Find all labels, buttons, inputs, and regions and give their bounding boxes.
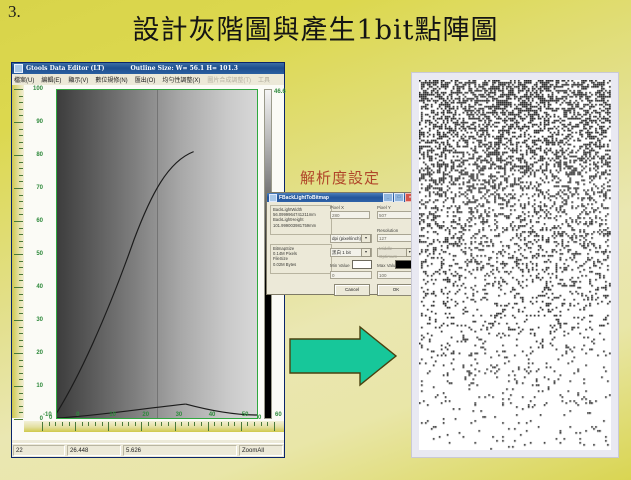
ruler-tick — [234, 422, 235, 426]
ruler-tick — [14, 221, 23, 222]
resolution-field[interactable]: 127 — [377, 234, 415, 242]
ruler-tick — [19, 360, 23, 361]
ruler-tick — [19, 201, 23, 202]
dithered-bitmap-panel — [411, 72, 619, 458]
gtools-data-editor-window: Gtools Data Editor (LT) Outline Size: W=… — [11, 62, 285, 458]
ruler-tick — [181, 422, 182, 426]
ruler-tick — [19, 412, 23, 413]
x-axis-tick-label: 40 — [209, 412, 216, 418]
ruler-tick — [122, 422, 123, 426]
ruler-tick — [14, 386, 23, 387]
ruler-tick — [208, 422, 209, 431]
chevron-down-icon[interactable]: ▾ — [361, 248, 371, 257]
menu-export[interactable]: 匯出(O) — [135, 75, 156, 84]
ruler-tick — [155, 422, 156, 426]
ruler-tick — [19, 241, 23, 242]
pixel-y-label: Pixel Y — [377, 205, 391, 210]
ruler-tick — [19, 214, 23, 215]
y-axis-tick-label: 30 — [36, 317, 43, 323]
ruler-tick — [19, 168, 23, 169]
y-axis-tick-label: 20 — [36, 350, 43, 356]
menu-uniformity[interactable]: 均勻性調整(X) — [162, 75, 200, 84]
file-size-value: 0.02M Bytes — [273, 262, 329, 267]
ruler-tick — [201, 422, 202, 426]
ruler-tick — [55, 422, 56, 426]
ruler-tick — [141, 422, 142, 431]
backlight-height-value: 101.999003981759mm — [273, 223, 329, 228]
cancel-button[interactable]: Cancel — [334, 284, 370, 296]
ruler-tick — [261, 422, 262, 426]
ruler-tick — [228, 422, 229, 426]
dialog-icon — [269, 194, 277, 202]
ok-button[interactable]: OK — [377, 284, 415, 296]
page-title: 設計灰階圖與產生1bit點陣圖 — [0, 8, 631, 47]
ruler-tick — [19, 267, 23, 268]
menu-view[interactable]: 顯示(V) — [68, 75, 88, 84]
process-arrow — [288, 325, 398, 387]
ruler-tick — [175, 422, 176, 431]
y-axis-tick-label: 50 — [36, 251, 43, 257]
dialog-title-text: FBackLightToBitmap — [279, 195, 329, 201]
ruler-tick — [19, 307, 23, 308]
ruler-tick — [19, 333, 23, 334]
ruler-tick — [274, 422, 275, 431]
ruler-tick — [19, 261, 23, 262]
ruler-tick — [254, 422, 255, 426]
dithered-bitmap-image — [419, 80, 611, 450]
ruler-tick — [82, 422, 83, 426]
resolution-label: Resolution — [377, 228, 398, 233]
y-axis-tick-label: 100 — [33, 86, 43, 92]
optimize-combo: Middle Optimum ▾ — [377, 248, 415, 257]
x-axis-tick-label: 50 — [242, 412, 249, 418]
ruler-tick — [14, 320, 23, 321]
ruler-tick — [19, 406, 23, 407]
y-axis-tick-label: 70 — [36, 185, 43, 191]
ruler-tick — [241, 422, 242, 431]
editor-canvas-body[interactable]: 0102030405060708090100 46.6 0 0 -1001020… — [12, 85, 284, 440]
ruler-tick — [214, 422, 215, 426]
ruler-tick — [19, 379, 23, 380]
ruler-tick — [19, 280, 23, 281]
response-curve — [57, 90, 257, 418]
intensity-value-label: 46.6 — [274, 89, 286, 95]
ruler-tick — [19, 115, 23, 116]
editor-title-bar: Gtools Data Editor (LT) Outline Size: W=… — [12, 63, 284, 74]
menu-image-compose: 圖片合成調整(T) — [207, 75, 251, 84]
ruler-tick — [69, 422, 70, 426]
color-depth-value: 黑白 1 bit — [332, 249, 351, 257]
status-cell-count: 22 — [13, 445, 65, 456]
status-cell-y: 5.626 — [123, 445, 237, 456]
minimize-icon[interactable]: _ — [383, 193, 393, 202]
ruler-tick — [19, 340, 23, 341]
x-axis-tick-label: 0 — [76, 412, 79, 418]
ruler-tick — [88, 422, 89, 426]
menu-edit[interactable]: 編輯(E) — [41, 75, 61, 84]
ruler-tick — [19, 109, 23, 110]
ruler-tick — [49, 422, 50, 426]
x-axis-tick-label: 20 — [142, 412, 149, 418]
ruler-tick — [19, 135, 23, 136]
ruler-tick — [19, 96, 23, 97]
backlight-to-bitmap-dialog: FBackLightToBitmap _ □ × BackLightWidth … — [266, 192, 418, 295]
ruler-tick — [14, 254, 23, 255]
y-axis-labels: 0102030405060708090100 — [25, 85, 43, 418]
horizontal-ruler[interactable] — [24, 421, 284, 432]
ruler-tick — [42, 422, 43, 431]
ruler-tick — [19, 294, 23, 295]
ruler-tick — [19, 234, 23, 235]
x-axis-tick-label: 60 — [275, 412, 282, 418]
ruler-tick — [19, 373, 23, 374]
ruler-tick — [221, 422, 222, 426]
x-axis-tick-label: 10 — [109, 412, 116, 418]
ruler-tick — [267, 422, 268, 426]
ruler-tick — [75, 422, 76, 431]
y-axis-tick-label: 60 — [36, 218, 43, 224]
annotation-resolution-setting: 解析度設定 — [300, 167, 380, 188]
grayscale-gradient-canvas[interactable] — [56, 89, 258, 419]
ruler-tick — [194, 422, 195, 426]
status-cell-zoom[interactable]: ZoomAll — [239, 445, 283, 456]
ruler-tick — [19, 366, 23, 367]
x-axis-tick-label: -10 — [43, 412, 52, 418]
editor-outline-size: Outline Size: W= 56.1 H= 101.3 — [130, 65, 237, 72]
ruler-tick — [19, 142, 23, 143]
ruler-tick — [14, 353, 23, 354]
editor-title-text: Gtools Data Editor (LT) — [26, 65, 104, 72]
ruler-tick — [19, 399, 23, 400]
ruler-tick — [19, 228, 23, 229]
bitmap-size-info-box: BitmapSize 0.14M Pixels FileSize 0.02M B… — [270, 244, 332, 274]
ruler-tick — [135, 422, 136, 426]
arrow-right-icon — [288, 325, 398, 387]
ruler-tick — [148, 422, 149, 426]
ruler-tick — [14, 188, 23, 189]
ruler-tick — [62, 422, 63, 426]
ruler-tick — [19, 195, 23, 196]
backlight-info-box: BackLightWidth 56.0999964741211mm BackLi… — [270, 205, 332, 235]
y-axis-tick-label: 90 — [36, 119, 43, 125]
ruler-tick — [19, 162, 23, 163]
ruler-tick — [14, 122, 23, 123]
vertical-ruler[interactable] — [12, 85, 24, 418]
ruler-tick — [14, 419, 23, 420]
menu-tools: 工具 — [258, 75, 270, 84]
ruler-tick — [19, 346, 23, 347]
y-axis-tick-label: 10 — [36, 383, 43, 389]
unit-combo[interactable]: dpi (pixel/inch) ▾ — [330, 234, 372, 243]
menu-digital-trim[interactable]: 數位規修(N) — [95, 75, 127, 84]
y-axis-tick-label: 40 — [36, 284, 43, 290]
ruler-tick — [19, 327, 23, 328]
ruler-tick — [19, 393, 23, 394]
app-icon — [14, 64, 23, 73]
pixel-y-field[interactable]: 507 — [377, 211, 415, 219]
color-depth-combo[interactable]: 黑白 1 bit ▾ — [330, 248, 372, 257]
ruler-tick — [161, 422, 162, 426]
x-axis-tick-label: 30 — [176, 412, 183, 418]
ruler-tick — [115, 422, 116, 426]
status-cell-x: 26.448 — [67, 445, 121, 456]
chevron-down-icon[interactable]: ▾ — [361, 234, 371, 243]
ruler-tick — [95, 422, 96, 426]
x-axis-labels: -100102030405060 — [24, 412, 284, 421]
maximize-icon[interactable]: □ — [394, 193, 404, 202]
pixel-x-field[interactable]: 280 — [330, 211, 370, 219]
ruler-tick — [14, 287, 23, 288]
ruler-tick — [19, 300, 23, 301]
ruler-tick — [19, 274, 23, 275]
ruler-tick — [19, 129, 23, 130]
ruler-tick — [168, 422, 169, 426]
y-axis-tick-label: 80 — [36, 152, 43, 158]
ruler-tick — [19, 208, 23, 209]
min-value-label: Min Value — [330, 263, 350, 268]
unit-combo-value: dpi (pixel/inch) — [332, 235, 361, 243]
editor-status-bar: 22 26.448 5.626 ZoomAll — [12, 443, 284, 457]
ruler-tick — [19, 313, 23, 314]
dialog-title-bar: FBackLightToBitmap _ □ × — [267, 193, 417, 202]
ruler-tick — [108, 422, 109, 431]
ruler-tick — [128, 422, 129, 426]
ruler-tick — [102, 422, 103, 426]
ruler-tick — [188, 422, 189, 426]
menu-file[interactable]: 檔案(U) — [14, 75, 34, 84]
dialog-body: BackLightWidth 56.0999964741211mm BackLi… — [267, 202, 417, 296]
pixel-x-label: Pixel X — [330, 205, 344, 210]
max-value-field[interactable]: 100 — [377, 271, 415, 279]
min-value-field[interactable]: 0 — [330, 271, 372, 279]
ruler-tick — [19, 247, 23, 248]
ruler-tick — [19, 148, 23, 149]
optimize-combo-value: Middle Optimum — [379, 245, 406, 261]
ruler-tick — [14, 155, 23, 156]
min-value-swatch[interactable] — [352, 260, 372, 269]
ruler-tick — [19, 181, 23, 182]
ruler-tick — [19, 102, 23, 103]
ruler-tick — [19, 175, 23, 176]
ruler-tick — [14, 89, 23, 90]
ruler-tick — [247, 422, 248, 426]
